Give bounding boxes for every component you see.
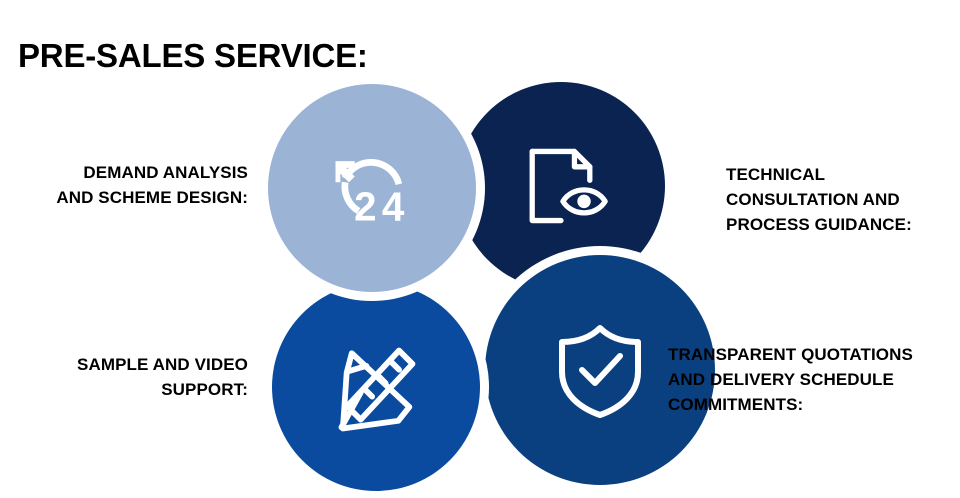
- label-line: DEMAND ANALYSIS: [0, 160, 248, 185]
- 24-hour-rotate-icon: 2 4: [324, 140, 420, 236]
- label-transparent-quotations: TRANSPARENT QUOTATIONS AND DELIVERY SCHE…: [668, 342, 960, 417]
- label-line: TECHNICAL: [726, 162, 958, 187]
- svg-text:2: 2: [354, 184, 376, 230]
- label-line: AND SCHEME DESIGN:: [0, 185, 248, 210]
- label-demand-analysis: DEMAND ANALYSIS AND SCHEME DESIGN:: [0, 160, 248, 210]
- shield-check-icon: [550, 320, 650, 420]
- circle-demand-analysis[interactable]: 2 4: [268, 84, 476, 292]
- label-line: SAMPLE AND VIDEO: [0, 352, 248, 377]
- pre-sales-service-diagram: 2 4: [0, 0, 960, 498]
- circle-technical-consultation[interactable]: [457, 82, 665, 290]
- label-line: COMMITMENTS:: [668, 392, 960, 417]
- label-line: PROCESS GUIDANCE:: [726, 212, 958, 237]
- label-line: AND DELIVERY SCHEDULE: [668, 367, 960, 392]
- svg-text:4: 4: [382, 184, 405, 230]
- circle-sample-video-support[interactable]: [272, 283, 480, 491]
- document-eye-review-icon: [513, 138, 609, 234]
- pen-and-ruler-icon: [328, 339, 424, 435]
- label-line: SUPPORT:: [0, 377, 248, 402]
- label-technical-consultation: TECHNICAL CONSULTATION AND PROCESS GUIDA…: [726, 162, 958, 237]
- label-line: CONSULTATION AND: [726, 187, 958, 212]
- label-line: TRANSPARENT QUOTATIONS: [668, 342, 960, 367]
- label-sample-video-support: SAMPLE AND VIDEO SUPPORT:: [0, 352, 248, 402]
